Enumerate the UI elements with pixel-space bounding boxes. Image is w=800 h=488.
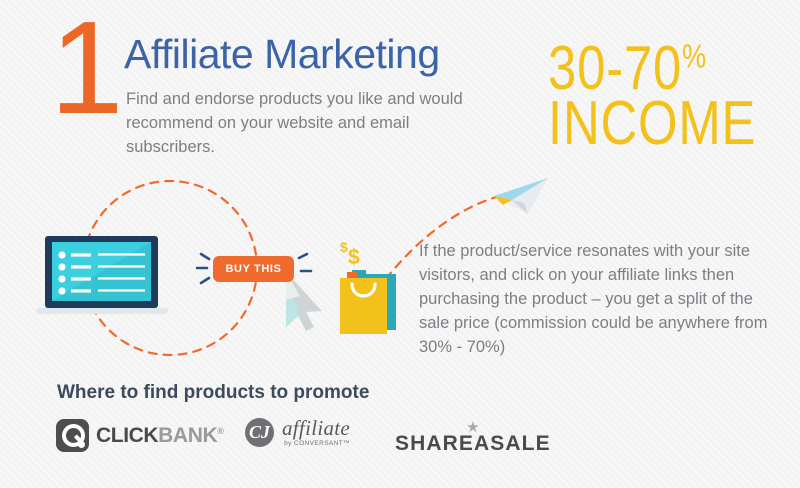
click-burst-right [299, 254, 311, 271]
cj-byline: by CONVERSANT™ [282, 441, 350, 448]
buy-this-label: BUY THIS [226, 263, 282, 275]
partner-logos: CLICKBANK® CJ affiliate by CONVERSANT™ ★… [50, 415, 750, 475]
shareasale-wordmark: SHAREASALE [395, 432, 551, 456]
income-stat: 30-70% INCOME [548, 42, 800, 151]
buy-this-button[interactable]: BUY THIS [213, 256, 294, 282]
paper-plane-icon [494, 178, 548, 214]
infographic-root: 1 Affiliate Marketing Find and endorse p… [0, 0, 800, 488]
svg-text:$: $ [348, 246, 360, 269]
income-range-line: 30-70% [548, 42, 756, 95]
laptop-icon [36, 236, 168, 314]
clickbank-word-click: CLICK [96, 424, 158, 447]
footer-heading: Where to find products to promote [57, 382, 369, 404]
clickbank-word-bank: BANK [158, 424, 217, 447]
income-label: INCOME [548, 97, 756, 150]
cj-word-affiliate: affiliate [282, 416, 350, 440]
clickbank-wordmark: CLICKBANK® [96, 424, 223, 448]
registered-mark-icon: ® [217, 426, 223, 436]
percent-symbol: % [682, 37, 706, 74]
body-copy: If the product/service resonates with yo… [419, 240, 779, 360]
dollar-sign-icon: $ $ [340, 239, 360, 269]
page-title: Affiliate Marketing [124, 34, 440, 75]
cj-wordmark: affiliate by CONVERSANT™ [282, 418, 350, 448]
logo-clickbank[interactable]: CLICKBANK® [56, 419, 223, 452]
logo-cj-affiliate[interactable]: CJ affiliate by CONVERSANT™ [245, 418, 350, 448]
step-description: Find and endorse products you like and w… [126, 88, 466, 160]
shopping-bag-icon [340, 270, 396, 334]
svg-text:$: $ [340, 239, 348, 255]
step-number: 1 [50, 2, 121, 134]
logo-shareasale[interactable]: ★ SHAREASALE [395, 421, 551, 456]
cj-circle-icon: CJ [245, 418, 274, 447]
click-burst-left [197, 254, 209, 283]
clickbank-magnifier-icon [56, 419, 89, 452]
